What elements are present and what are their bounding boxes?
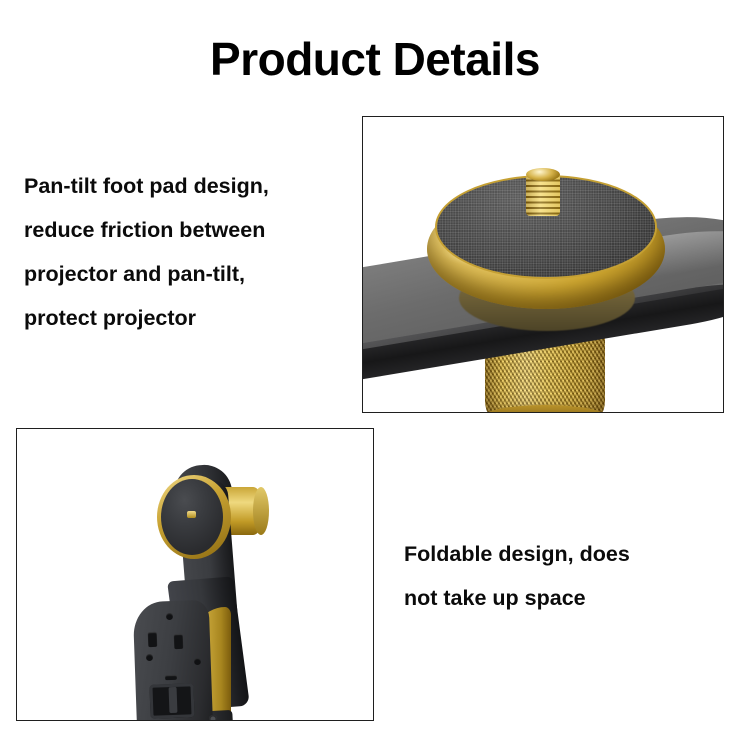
mounting-slot-left <box>148 632 158 647</box>
mounting-plate-window-tab <box>169 687 178 713</box>
pivot-screw <box>209 715 217 721</box>
foot-pad-photo <box>362 116 724 413</box>
mounting-hole-left <box>146 654 153 661</box>
mounting-hole-right <box>194 658 201 665</box>
mounting-slot-right <box>174 634 184 649</box>
screw-post-top <box>526 168 560 181</box>
foldable-description: Foldable design, does not take up space <box>404 532 724 620</box>
mounting-slot-lower <box>165 675 177 680</box>
foot-pad-description: Pan-tilt foot pad design, reduce frictio… <box>24 164 354 340</box>
foldable-bracket-scene <box>17 429 373 720</box>
mounting-hole-top <box>166 613 173 620</box>
foldable-bracket-photo <box>16 428 374 721</box>
hinge-center-dot <box>187 511 196 518</box>
brass-cylinder-cap <box>253 487 269 535</box>
foot-pad-scene <box>363 117 723 412</box>
page-title: Product Details <box>0 36 750 82</box>
